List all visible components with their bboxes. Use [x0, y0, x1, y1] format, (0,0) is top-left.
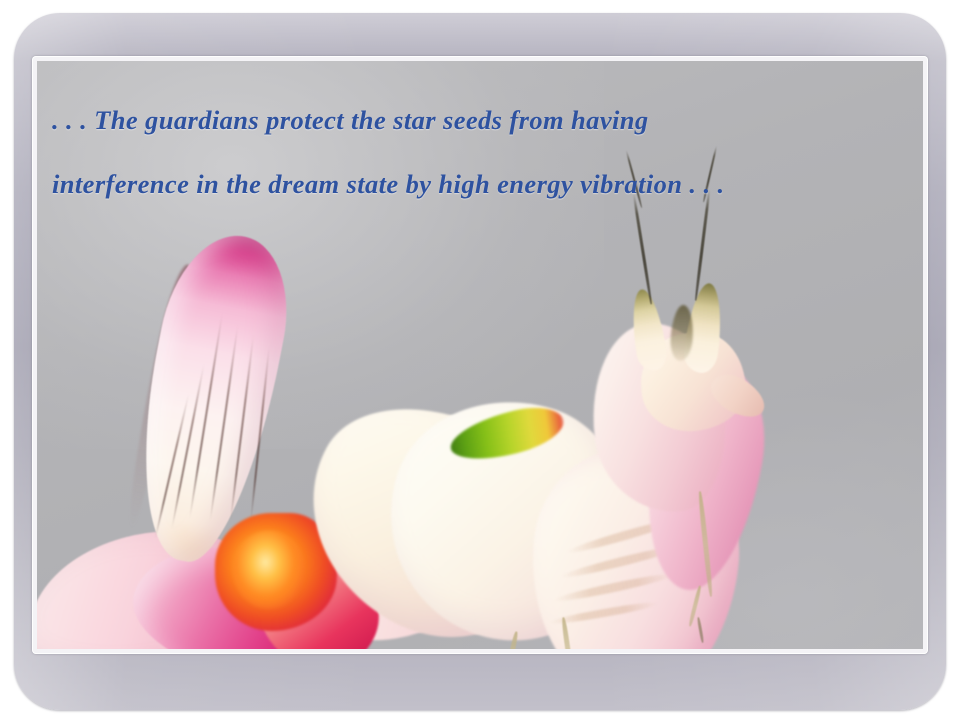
- caption-line-2: interference in the dream state by high …: [52, 152, 872, 216]
- caption-line-1: . . . The guardians protect the star see…: [52, 88, 872, 152]
- slide-canvas: . . . The guardians protect the star see…: [0, 0, 960, 720]
- orchid-flower-center-highlight: [233, 531, 305, 609]
- slide-caption: . . . The guardians protect the star see…: [52, 88, 872, 216]
